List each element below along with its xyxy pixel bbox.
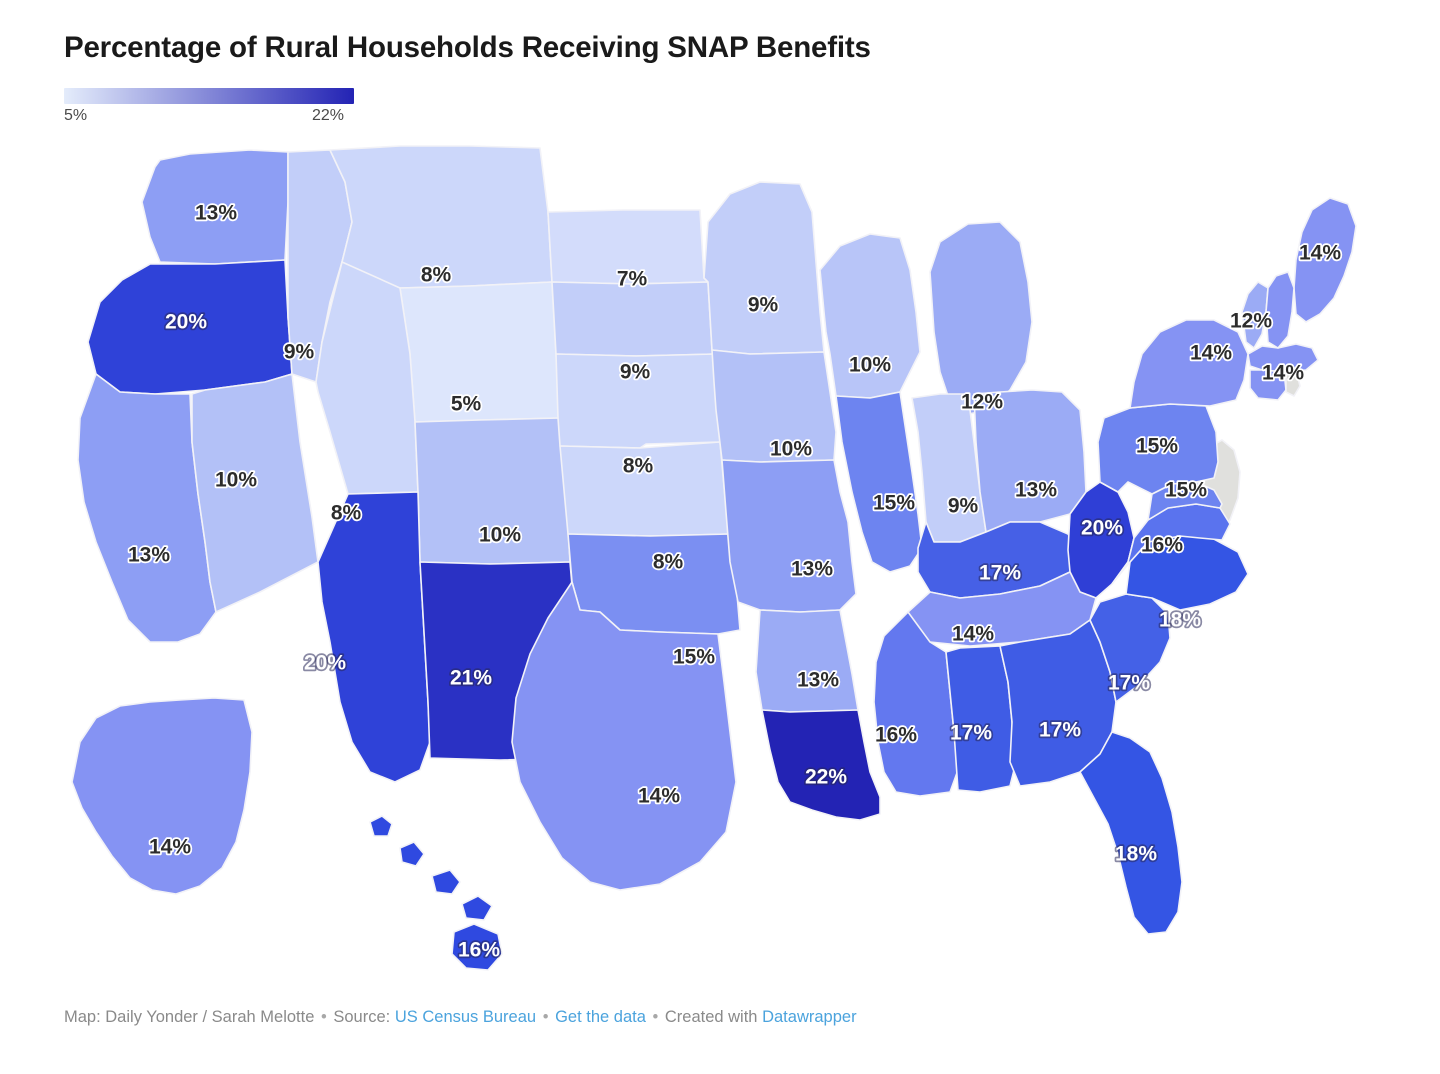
footer-separator-1: •	[319, 1008, 329, 1026]
choropleth-map-figure: Percentage of Rural Households Receiving…	[0, 0, 1440, 1074]
legend-gradient-bar	[64, 88, 354, 104]
state-value-label-ar: 13%	[797, 669, 839, 692]
state-value-label-mo: 13%	[791, 558, 833, 581]
state-value-label-ut: 8%	[331, 502, 362, 525]
state-value-label-la: 22%	[805, 766, 847, 789]
state-value-label-sc: 17%	[1108, 672, 1150, 695]
footer-created-label: Created with	[665, 1008, 758, 1026]
state-value-label-az: 20%	[304, 652, 346, 675]
legend-max-label: 22%	[312, 107, 344, 125]
state-value-label-il: 15%	[873, 492, 915, 515]
datawrapper-link[interactable]: Datawrapper	[762, 1008, 856, 1026]
state-value-label-nh: 14%	[1262, 362, 1304, 385]
state-ak[interactable]	[72, 698, 252, 894]
state-hi[interactable]	[400, 842, 424, 866]
state-value-label-ca: 13%	[128, 544, 170, 567]
legend-min-label: 5%	[64, 107, 87, 125]
state-value-label-ga: 17%	[1039, 719, 1081, 742]
state-value-label-sd: 9%	[620, 361, 651, 384]
state-value-label-mi: 12%	[961, 391, 1003, 414]
state-value-label-va: 16%	[1141, 534, 1183, 557]
state-value-label-in: 9%	[948, 495, 979, 518]
us-map-canvas: 13%20%13%10%9%8%5%8%10%20%21%7%9%8%8%15%…	[0, 142, 1440, 992]
state-value-label-ms: 16%	[875, 724, 917, 747]
state-value-label-nd: 7%	[617, 268, 648, 291]
state-value-label-tx: 14%	[638, 785, 680, 808]
state-value-label-fl: 18%	[1115, 843, 1157, 866]
state-ar[interactable]	[756, 610, 858, 712]
us-map-svg: 13%20%13%10%9%8%5%8%10%20%21%7%9%8%8%15%…	[0, 142, 1440, 992]
state-value-label-hi: 16%	[458, 939, 500, 962]
footer-source-label: Source:	[333, 1008, 390, 1026]
state-value-label-nm: 21%	[450, 667, 492, 690]
state-value-label-wi: 10%	[849, 354, 891, 377]
state-value-label-or: 20%	[165, 311, 207, 334]
state-hi[interactable]	[462, 896, 492, 920]
state-value-label-wv: 20%	[1081, 517, 1123, 540]
footer-separator-3: •	[650, 1008, 660, 1026]
legend-tick-labels: 5% 22%	[64, 107, 354, 127]
state-value-label-wy: 5%	[451, 393, 482, 416]
state-value-label-ny: 14%	[1190, 342, 1232, 365]
state-value-label-id: 9%	[284, 341, 315, 364]
page-title: Percentage of Rural Households Receiving…	[64, 30, 871, 65]
state-sd[interactable]	[552, 282, 716, 356]
state-value-label-oh: 13%	[1015, 479, 1057, 502]
footer-credits: Map: Daily Yonder / Sarah Melotte • Sour…	[64, 1008, 857, 1027]
state-shapes-layer	[72, 146, 1356, 970]
state-mn[interactable]	[704, 182, 824, 354]
footer-map-credit: Map: Daily Yonder / Sarah Melotte	[64, 1008, 314, 1026]
state-value-label-al: 17%	[950, 722, 992, 745]
state-value-label-nc: 18%	[1159, 609, 1201, 632]
state-value-label-nv: 10%	[215, 469, 257, 492]
state-value-label-mn: 9%	[748, 294, 779, 317]
state-value-label-ks: 8%	[653, 551, 684, 574]
state-hi[interactable]	[370, 816, 392, 836]
state-mo[interactable]	[722, 460, 856, 612]
state-az[interactable]	[318, 492, 430, 782]
color-legend: 5% 22%	[64, 88, 354, 127]
state-nv[interactable]	[192, 374, 318, 612]
source-link[interactable]: US Census Bureau	[395, 1008, 536, 1026]
state-value-label-me: 14%	[1299, 242, 1341, 265]
state-value-label-ne: 8%	[623, 455, 654, 478]
state-fl[interactable]	[1080, 732, 1182, 934]
state-value-label-ak: 14%	[149, 836, 191, 859]
state-value-label-wa: 13%	[195, 202, 237, 225]
state-value-label-ia: 10%	[770, 438, 812, 461]
state-value-label-md: 15%	[1165, 479, 1207, 502]
state-mi[interactable]	[930, 222, 1032, 414]
state-value-label-ky: 17%	[979, 562, 1021, 585]
state-value-label-vt: 12%	[1230, 310, 1272, 333]
state-value-label-ok: 15%	[673, 646, 715, 669]
state-hi[interactable]	[432, 870, 460, 894]
footer-separator-2: •	[541, 1008, 551, 1026]
state-value-label-pa: 15%	[1136, 435, 1178, 458]
state-value-label-tn: 14%	[952, 623, 994, 646]
state-value-label-mt: 8%	[421, 264, 452, 287]
get-the-data-link[interactable]: Get the data	[555, 1008, 646, 1026]
state-value-label-co: 10%	[479, 524, 521, 547]
